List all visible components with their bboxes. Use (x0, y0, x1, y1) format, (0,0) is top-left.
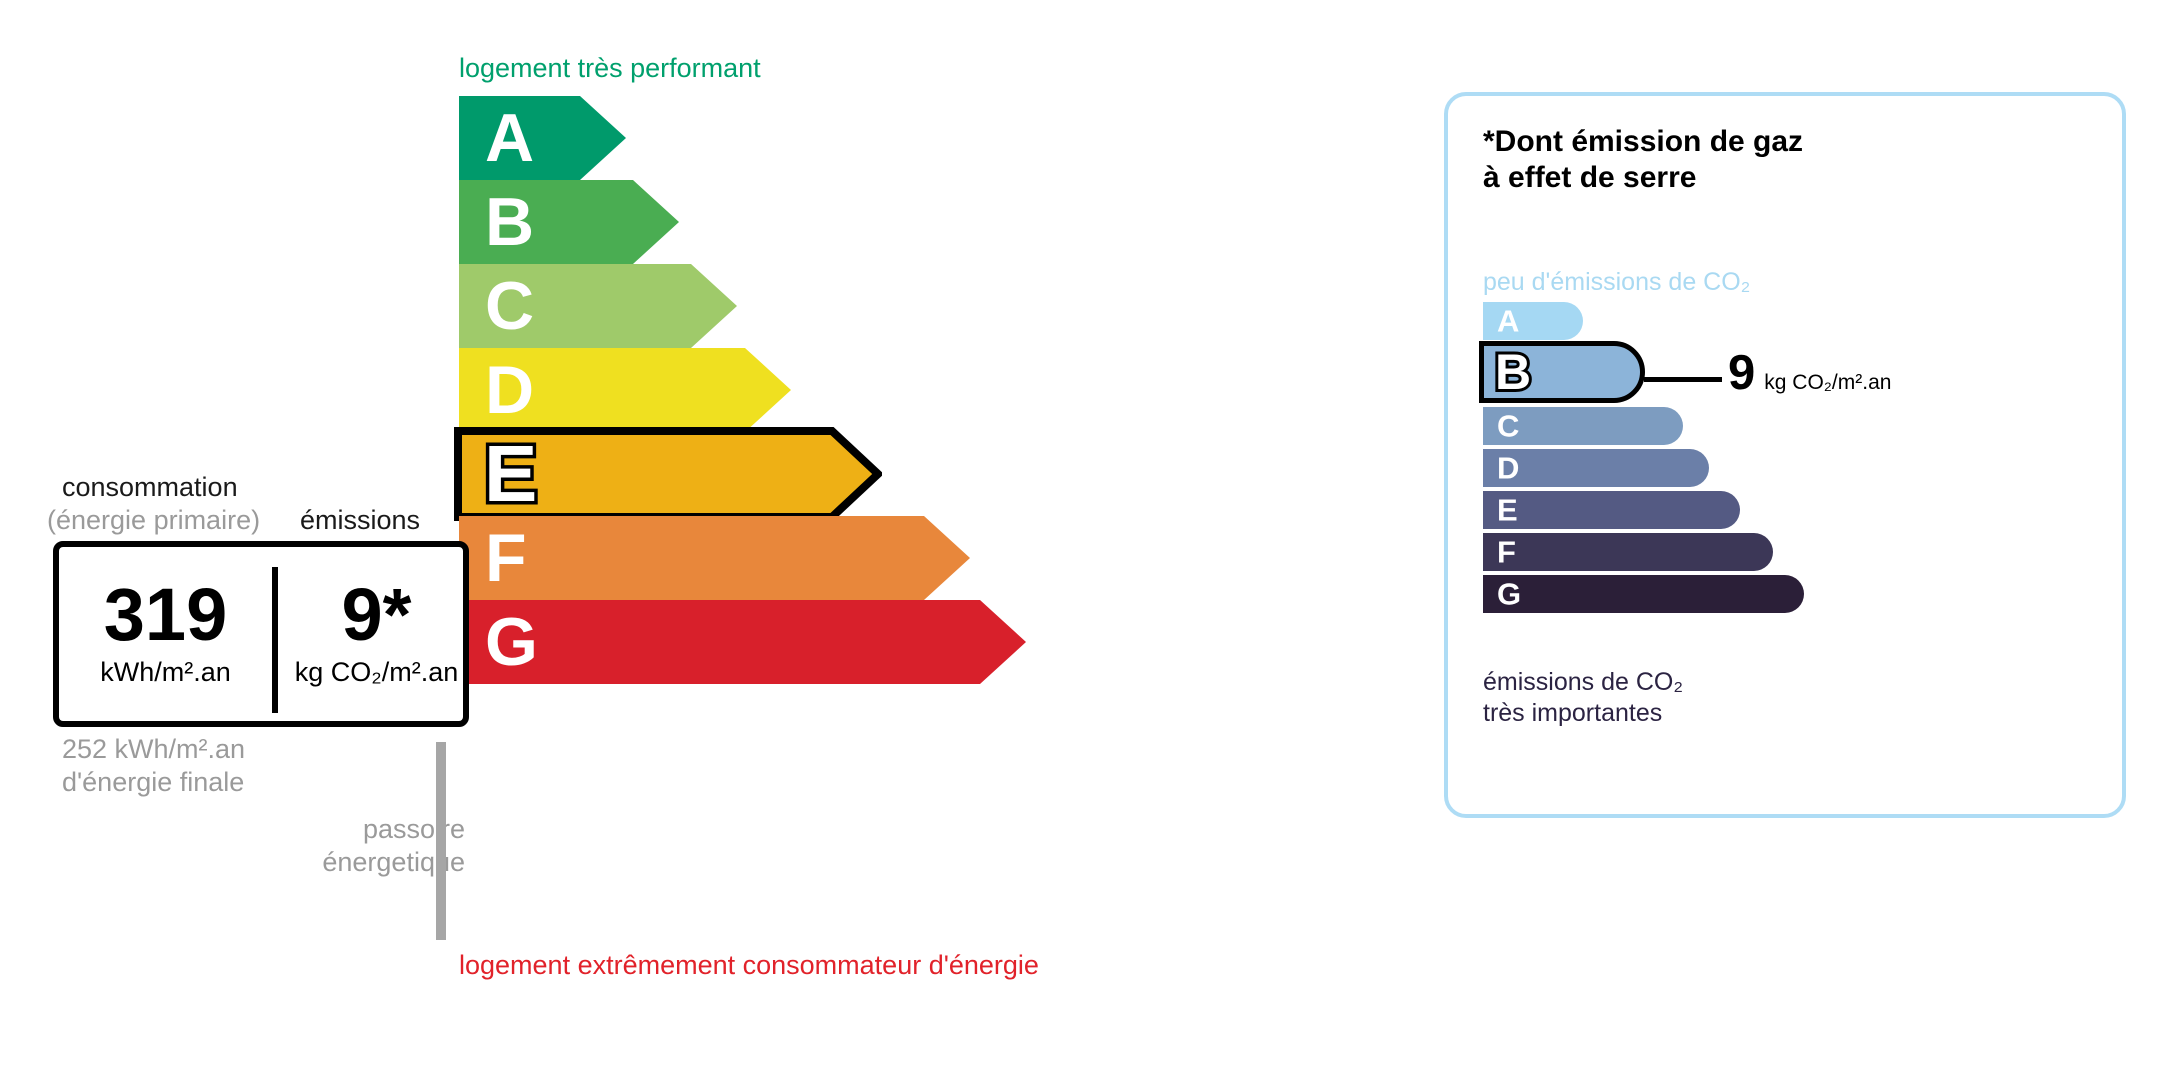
energy-band-letter-c: C (485, 272, 534, 340)
energy-band-e: E (454, 427, 882, 521)
co2-leader-line (1644, 377, 1722, 382)
energy-band-b: B (459, 180, 679, 264)
co2-title-line1: *Dont émission de gaz (1483, 124, 1803, 160)
energy-top-caption: logement très performant (459, 53, 761, 84)
co2-row-e: E (1483, 491, 1740, 529)
co2-bar-f (1483, 533, 1773, 571)
label-consumption-sub: (énergie primaire) (47, 505, 260, 536)
passoire-marker-bar (436, 742, 446, 940)
co2-panel-title: *Dont émission de gaz à effet de serre (1483, 124, 1803, 196)
energy-readout: 319 kWh/m².an (59, 547, 272, 721)
energy-performance-chart: logement très performant ABCDEFG consomm… (0, 0, 1400, 1079)
final-energy-note: 252 kWh/m².an d'énergie finale (62, 733, 245, 800)
final-energy-line2: d'énergie finale (62, 766, 245, 799)
co2-bar-e (1483, 491, 1740, 529)
energy-band-letter-d: D (485, 356, 534, 424)
energy-band-letter-f: F (485, 524, 527, 592)
energy-band-letter-e: E (484, 434, 537, 514)
co2-letter-a: A (1497, 306, 1519, 337)
energy-band-a: A (459, 96, 626, 180)
energy-band-arrow-f (459, 516, 970, 600)
co2-unit: kg CO₂/m².an (295, 657, 459, 688)
co2-letter-c: C (1497, 411, 1519, 442)
co2-letter-e: E (1497, 495, 1518, 526)
co2-bar-g (1483, 575, 1804, 613)
energy-band-letter-b: B (485, 188, 534, 256)
label-emissions: émissions (300, 505, 420, 536)
final-energy-line1: 252 kWh/m².an (62, 733, 245, 766)
co2-measured-unit: kg CO₂/m².an (1764, 371, 1891, 395)
co2-row-d: D (1483, 449, 1709, 487)
co2-row-c: C (1483, 407, 1683, 445)
energy-band-g: G (459, 600, 1026, 684)
energy-band-d: D (459, 348, 791, 432)
co2-top-caption: peu d'émissions de CO₂ (1483, 268, 1750, 297)
co2-title-line2: à effet de serre (1483, 160, 1803, 196)
co2-measured-value: 9 kg CO₂/m².an (1728, 349, 1891, 398)
energy-bottom-caption: logement extrêmement consommateur d'éner… (459, 950, 1039, 981)
consumption-readout-box: 319 kWh/m².an 9* kg CO₂/m².an (53, 541, 469, 727)
co2-row-b: B (1479, 341, 1645, 403)
co2-letter-f: F (1497, 537, 1516, 568)
co2-bottom-line2: très importantes (1483, 698, 1683, 729)
energy-band-letter-g: G (485, 608, 538, 676)
co2-row-g: G (1483, 575, 1804, 613)
energy-band-f: F (459, 516, 970, 600)
co2-value: 9* (342, 580, 412, 650)
energy-band-letter-a: A (485, 104, 534, 172)
co2-letter-g: G (1497, 579, 1521, 610)
energy-band-c: C (459, 264, 737, 348)
energy-unit: kWh/m².an (100, 657, 231, 688)
co2-row-f: F (1483, 533, 1773, 571)
co2-emissions-panel: *Dont émission de gaz à effet de serre p… (1444, 92, 2126, 818)
label-consumption: consommation (62, 472, 238, 503)
co2-bottom-caption: émissions de CO₂ très importantes (1483, 667, 1683, 729)
energy-value: 319 (104, 580, 227, 650)
energy-band-arrow-g (459, 600, 1026, 684)
co2-row-a: A (1483, 302, 1583, 340)
co2-readout: 9* kg CO₂/m².an (278, 547, 475, 721)
co2-letter-b: B (1495, 347, 1531, 397)
co2-measured-number: 9 (1728, 349, 1755, 398)
co2-letter-d: D (1497, 453, 1519, 484)
co2-bottom-line1: émissions de CO₂ (1483, 667, 1683, 698)
